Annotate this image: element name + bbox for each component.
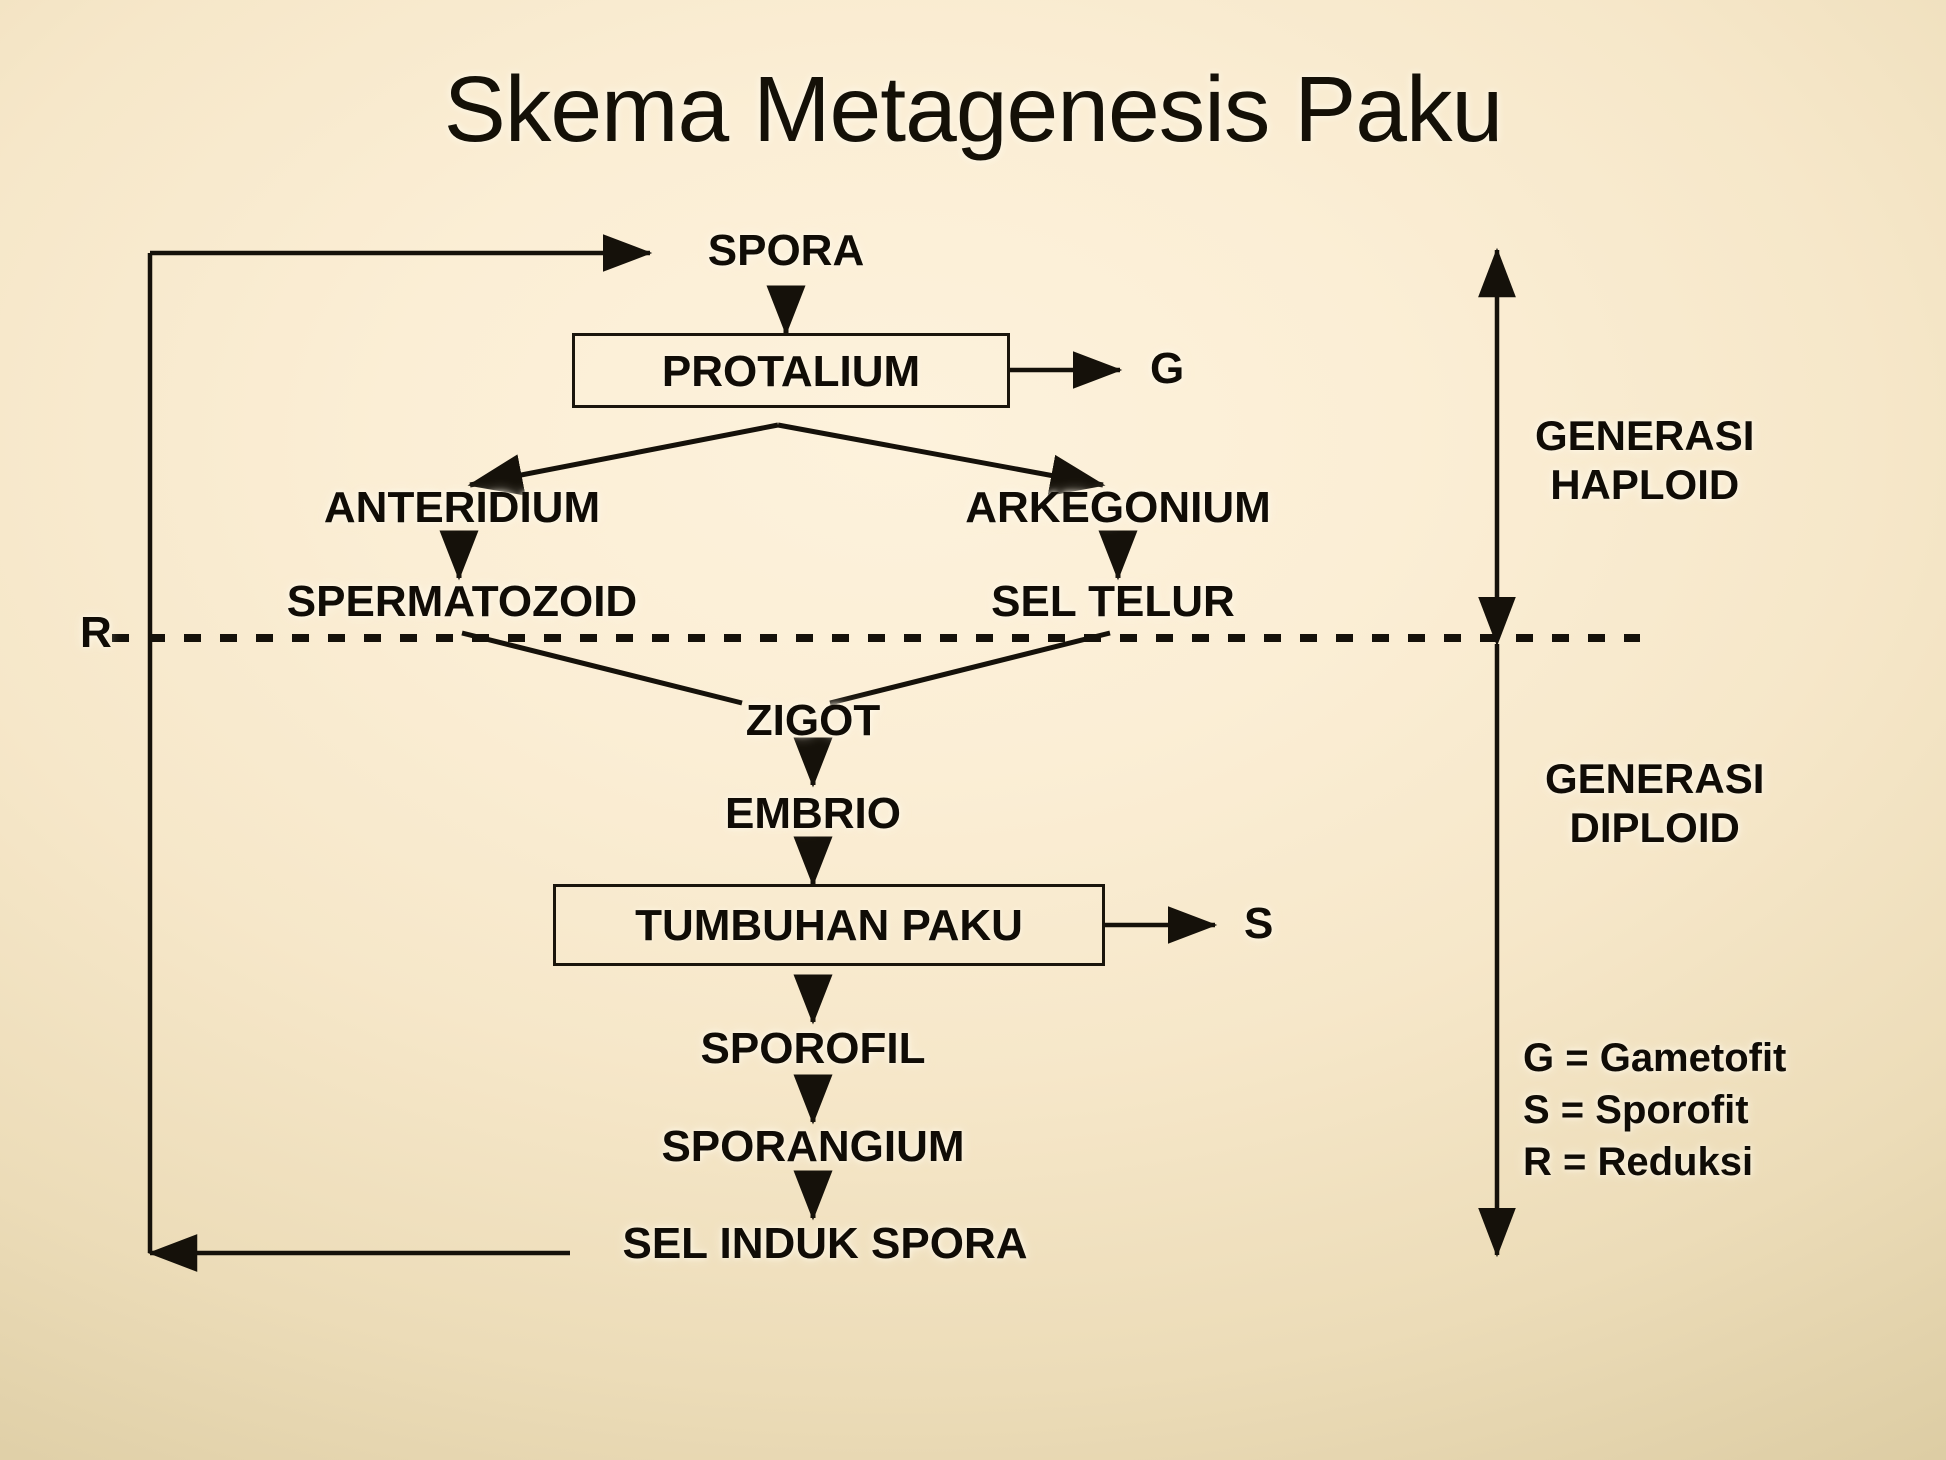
generasi-haploid-line2: HAPLOID (1535, 461, 1754, 510)
generasi-haploid-line1: GENERASI (1535, 412, 1754, 461)
edge-protalium-arkegonium (778, 425, 1103, 485)
node-sporofil: SPOROFIL (701, 1024, 926, 1074)
generasi-diploid-line1: GENERASI (1545, 755, 1764, 804)
legend-item-sporofit: S = Sporofit (1523, 1084, 1786, 1136)
node-zigot: ZIGOT (746, 696, 880, 746)
node-spermatozoid: SPERMATOZOID (287, 577, 637, 627)
node-embrio: EMBRIO (725, 789, 901, 839)
slide-canvas: Skema Metagenesis Paku (0, 0, 1946, 1460)
node-spora: SPORA (708, 226, 864, 276)
node-protalium: PROTALIUM (662, 347, 920, 397)
legend-item-reduksi: R = Reduksi (1523, 1136, 1786, 1188)
generasi-haploid: GENERASI HAPLOID (1535, 412, 1754, 509)
generasi-diploid: GENERASI DIPLOID (1545, 755, 1764, 852)
generasi-diploid-line2: DIPLOID (1545, 804, 1764, 853)
marker-sporofit: S (1244, 899, 1273, 949)
marker-gametofit: G (1150, 344, 1184, 394)
node-sel-telur: SEL TELUR (991, 577, 1235, 627)
marker-reduksi: R (80, 608, 112, 658)
node-tumbuhan-paku: TUMBUHAN PAKU (635, 901, 1023, 951)
edge-spermatozoid-zigot (462, 633, 742, 703)
legend: G = Gametofit S = Sporofit R = Reduksi (1523, 1032, 1786, 1188)
node-sel-induk-spora: SEL INDUK SPORA (622, 1219, 1027, 1269)
node-arkegonium: ARKEGONIUM (965, 483, 1271, 533)
node-sporangium: SPORANGIUM (661, 1122, 964, 1172)
edge-protalium-anteridium (470, 425, 778, 485)
node-anteridium: ANTERIDIUM (324, 483, 600, 533)
legend-item-gametofit: G = Gametofit (1523, 1032, 1786, 1084)
edge-seltelur-zigot (830, 633, 1110, 703)
